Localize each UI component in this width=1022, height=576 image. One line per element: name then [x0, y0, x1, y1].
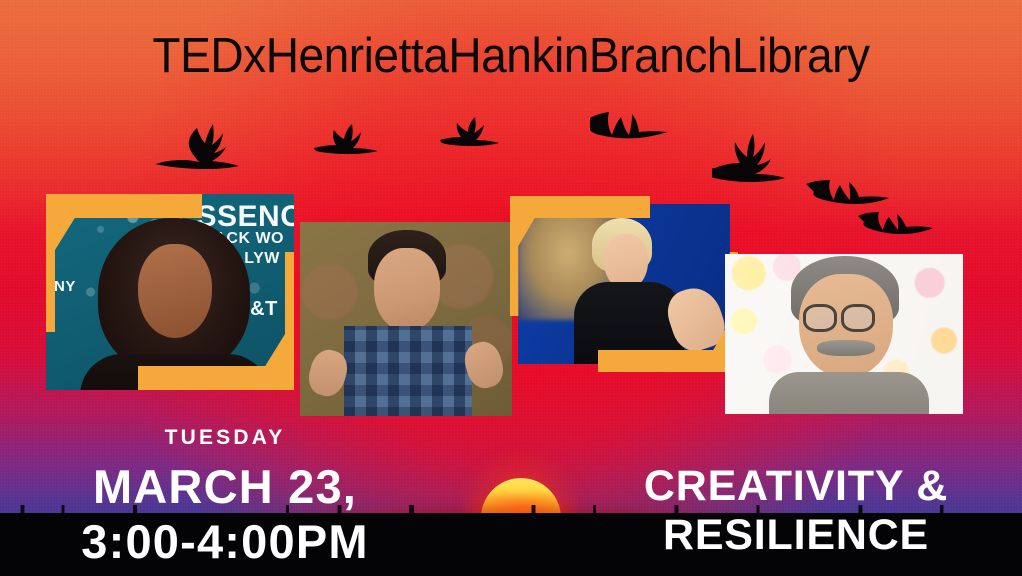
event-weekday: TUESDAY — [30, 426, 420, 450]
event-time: 3:00-4:00PM — [30, 515, 420, 568]
crane-bird-icon — [712, 124, 808, 186]
speaker-photo-4 — [725, 254, 963, 414]
speaker-photo-4-image — [725, 254, 963, 414]
theme-line-2: RESILIENCE — [600, 511, 992, 560]
event-theme: CREATIVITY & RESILIENCE — [600, 462, 992, 561]
crane-bird-icon — [588, 96, 670, 144]
speaker-photo-2-image — [300, 222, 512, 416]
speaker-photo-3 — [518, 204, 730, 364]
speaker-photo-1: ESSENCE BLACK WO N HOLLYW NY AT&T — [46, 194, 294, 390]
event-details: TUESDAY MARCH 23, 3:00-4:00PM — [30, 426, 420, 568]
crane-bird-icon — [438, 114, 516, 156]
crane-bird-icon — [152, 118, 252, 174]
page-title: TEDxHenriettaHankinBranchLibrary — [31, 28, 992, 84]
speaker-photo-3-image — [518, 204, 730, 364]
speaker-photo-1-image: ESSENCE BLACK WO N HOLLYW NY AT&T — [46, 194, 294, 390]
event-poster: TEDxHenriettaHankinBranchLibrary ESSENCE… — [0, 0, 1022, 576]
theme-line-1: CREATIVITY & — [600, 462, 992, 511]
crane-bird-icon — [312, 118, 394, 162]
event-date: MARCH 23, — [30, 460, 420, 513]
crane-bird-icon — [856, 196, 936, 236]
speaker-photo-2 — [300, 222, 512, 416]
